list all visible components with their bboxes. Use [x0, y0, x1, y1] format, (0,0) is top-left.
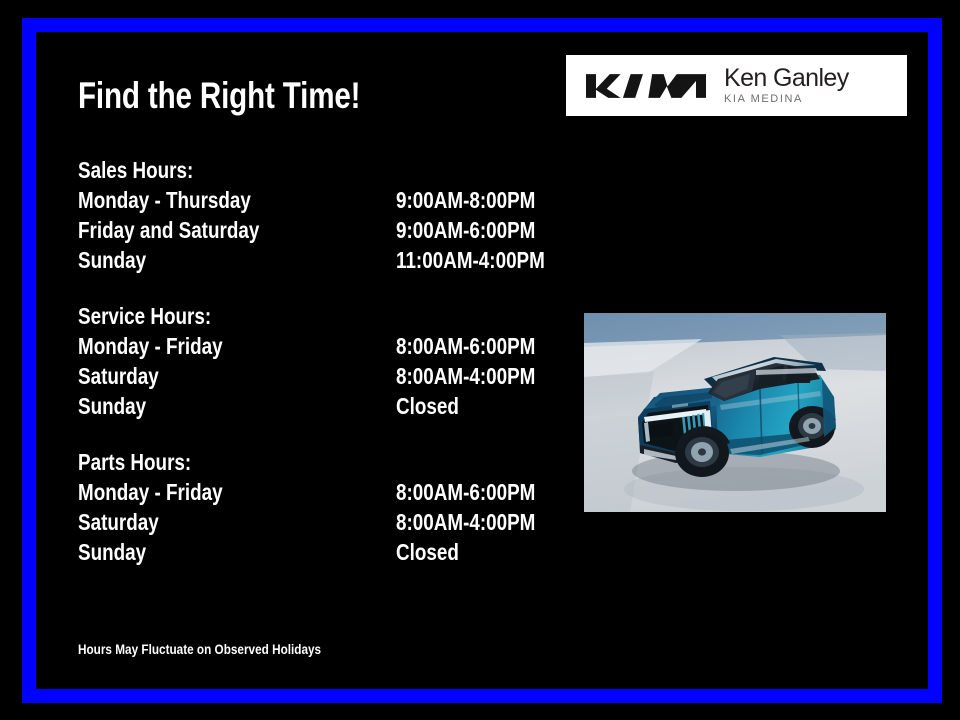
- hours-row: Sunday 11:00AM-4:00PM: [78, 245, 548, 275]
- page-title: Find the Right Time!: [78, 77, 360, 116]
- hours-time: 9:00AM-6:00PM: [396, 215, 566, 245]
- hours-block-parts: Parts Hours: Monday - Friday 8:00AM-6:00…: [78, 447, 548, 567]
- hours-time: 9:00AM-8:00PM: [396, 185, 566, 215]
- hours-row: Monday - Friday 8:00AM-6:00PM: [78, 477, 548, 507]
- hours-day: Sunday: [78, 245, 396, 275]
- hours-day: Saturday: [78, 361, 396, 391]
- hours-day: Sunday: [78, 537, 396, 567]
- hours-day: Monday - Thursday: [78, 185, 396, 215]
- hours-time: 8:00AM-6:00PM: [396, 477, 566, 507]
- dealer-logo-box: Ken Ganley KIA MEDINA: [566, 55, 907, 116]
- hours-heading: Parts Hours:: [78, 447, 463, 477]
- hours-time: 8:00AM-6:00PM: [396, 331, 566, 361]
- kia-logo-mark: [584, 71, 708, 101]
- hours-heading: Sales Hours:: [78, 155, 463, 185]
- hours-time: 8:00AM-4:00PM: [396, 507, 566, 537]
- hours-block-service: Service Hours: Monday - Friday 8:00AM-6:…: [78, 301, 548, 421]
- hours-day: Saturday: [78, 507, 396, 537]
- hours-row: Monday - Friday 8:00AM-6:00PM: [78, 331, 548, 361]
- hours-row: Saturday 8:00AM-4:00PM: [78, 361, 548, 391]
- hours-time: Closed: [396, 537, 473, 567]
- hours-block-sales: Sales Hours: Monday - Thursday 9:00AM-8:…: [78, 155, 548, 275]
- hours-time: 11:00AM-4:00PM: [396, 245, 578, 275]
- kia-ev9-suv-photo: [584, 313, 886, 512]
- hours-row: Saturday 8:00AM-4:00PM: [78, 507, 548, 537]
- hours-time: 8:00AM-4:00PM: [396, 361, 566, 391]
- hours-time: Closed: [396, 391, 473, 421]
- dealer-name: Ken Ganley: [724, 66, 849, 91]
- hours-row: Sunday Closed: [78, 537, 548, 567]
- hours-day: Monday - Friday: [78, 477, 396, 507]
- hours-list: Sales Hours: Monday - Thursday 9:00AM-8:…: [78, 155, 548, 567]
- hours-day: Sunday: [78, 391, 396, 421]
- hours-heading: Service Hours:: [78, 301, 463, 331]
- dealer-logo-text: Ken Ganley KIA MEDINA: [724, 66, 849, 105]
- dealer-subtitle: KIA MEDINA: [724, 94, 849, 105]
- slide-canvas: Find the Right Time! Ken Ganley KIA MEDI…: [0, 0, 960, 720]
- hours-row: Friday and Saturday 9:00AM-6:00PM: [78, 215, 548, 245]
- holiday-disclaimer: Hours May Fluctuate on Observed Holidays: [78, 641, 321, 657]
- hours-day: Monday - Friday: [78, 331, 396, 361]
- hours-day: Friday and Saturday: [78, 215, 396, 245]
- hours-row: Monday - Thursday 9:00AM-8:00PM: [78, 185, 548, 215]
- hours-row: Sunday Closed: [78, 391, 548, 421]
